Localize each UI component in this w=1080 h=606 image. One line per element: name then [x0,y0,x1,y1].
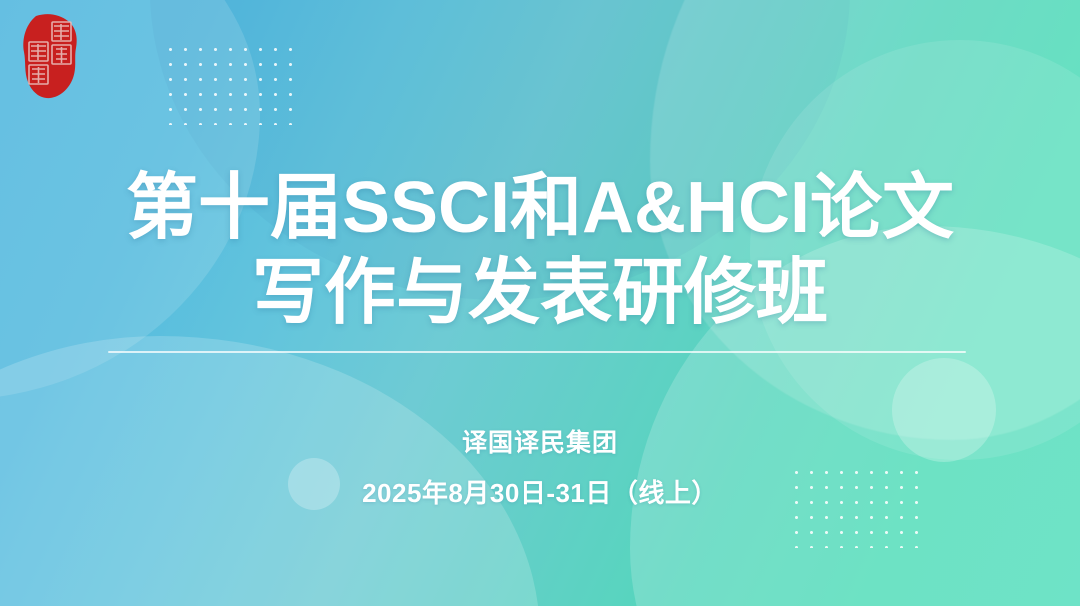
event-date: 2025年8月30日-31日（线上） [0,473,1080,510]
poster-title-line-2: 写作与发表研修班 [0,251,1080,336]
poster-title-line-1: 第十届SSCI和A&HCI论文 [0,166,1080,251]
poster-title: 第十届SSCI和A&HCI论文 写作与发表研修班 [0,166,1080,336]
poster-canvas: 第十届SSCI和A&HCI论文 写作与发表研修班 译国译民集团 2025年8月3… [0,0,1080,606]
organizer-name: 译国译民集团 [0,423,1080,459]
title-divider [108,351,966,353]
